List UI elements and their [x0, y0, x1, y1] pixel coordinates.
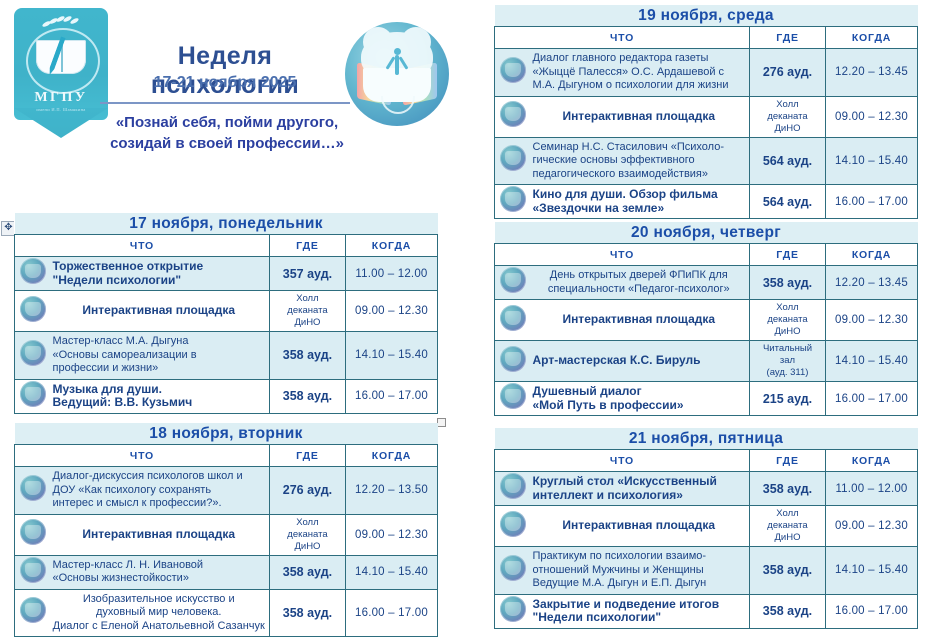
event-when: 16.00 – 17.00 — [826, 382, 918, 416]
column-header-when: КОГДА — [345, 235, 437, 257]
event-icon-cell — [15, 467, 51, 515]
table-row: Музыка для души.Ведущий: В.В. Кузьмич358… — [15, 379, 438, 413]
event-when: 09.00 – 12.30 — [345, 291, 437, 332]
event-icon-cell — [495, 341, 531, 382]
event-when: 14.10 – 15.40 — [345, 555, 437, 589]
event-icon-cell — [495, 300, 531, 341]
event-what: Мастер-класс М.А. Дыгуна«Основы самореал… — [51, 332, 270, 380]
event-what: Интерактивная площадка — [51, 514, 270, 555]
column-header-row: ЧТОГДЕКОГДА — [495, 27, 918, 49]
event-icon-cell — [495, 185, 531, 219]
column-header-when: КОГДА — [826, 244, 918, 266]
psychology-emblem-icon — [345, 22, 449, 126]
table-row: Диалог главного редактора газеты«Жыццё П… — [495, 49, 918, 97]
event-where: 358 ауд. — [749, 594, 825, 628]
event-what: Интерактивная площадка — [531, 300, 750, 341]
event-where: ХоллдеканатаДиНО — [749, 506, 825, 547]
event-when: 09.00 – 12.30 — [826, 96, 918, 137]
table-row: Круглый стол «Искусственныйинтеллект и п… — [495, 472, 918, 506]
event-what: Интерактивная площадка — [531, 96, 750, 137]
column-header-where: ГДЕ — [749, 450, 825, 472]
event-where: ХоллдеканатаДиНО — [750, 300, 826, 341]
event-emblem-icon — [500, 473, 526, 499]
event-icon-cell — [495, 137, 531, 185]
event-icon-cell — [15, 332, 51, 380]
table-row: Интерактивная площадкаХоллдеканатаДиНО09… — [495, 96, 918, 137]
column-header-row: ЧТОГДЕКОГДА — [15, 445, 438, 467]
table-row: Кино для души. Обзор фильма«Звездочки на… — [495, 185, 918, 219]
page-dates: 17-21 ноября 2025 — [100, 74, 350, 92]
table-row: Торжественное открытие"Недели психологии… — [15, 257, 438, 291]
column-header-when: КОГДА — [825, 450, 917, 472]
column-header-where: ГДЕ — [750, 27, 826, 49]
schedule-table-20: 20 ноября, четвергЧТОГДЕКОГДАДень открыт… — [494, 222, 918, 416]
day-title: 21 ноября, пятница — [495, 428, 918, 450]
column-header-where: ГДЕ — [750, 244, 826, 266]
event-icon-cell — [495, 472, 531, 506]
table-row: Практикум по психологии взаимо-отношений… — [495, 547, 918, 595]
table-row: Закрытие и подведение итогов"Недели псих… — [495, 594, 918, 628]
table-row: Мастер-класс М.А. Дыгуна«Основы самореал… — [15, 332, 438, 380]
column-header-what: ЧТО — [15, 445, 270, 467]
event-emblem-icon — [20, 597, 46, 623]
event-what: Изобразительное искусство идуховный мир … — [51, 589, 270, 637]
emblem-human-figure — [391, 48, 403, 82]
table-row: Семинар Н.С. Стасилович «Психоло-гически… — [495, 137, 918, 185]
schedule-table-17: 17 ноября, понедельникЧТОГДЕКОГДАТоржест… — [14, 213, 438, 414]
event-emblem-icon — [500, 267, 526, 293]
event-icon-cell — [495, 96, 531, 137]
day-title-row: 18 ноября, вторник — [15, 423, 438, 445]
table-row: День открытых дверей ФПиПК дляспециально… — [495, 266, 918, 300]
event-emblem-icon — [500, 101, 526, 127]
event-when: 09.00 – 12.30 — [826, 300, 918, 341]
event-when: 16.00 – 17.00 — [825, 594, 917, 628]
event-when: 12.20 – 13.45 — [826, 266, 918, 300]
day-title-row: 20 ноября, четверг — [495, 222, 918, 244]
event-where: 358 ауд. — [269, 555, 345, 589]
event-where: 358 ауд. — [269, 379, 345, 413]
event-icon-cell — [15, 257, 51, 291]
event-icon-cell — [15, 379, 51, 413]
day-title-row: 21 ноября, пятница — [495, 428, 918, 450]
column-header-row: ЧТОГДЕКОГДА — [495, 450, 918, 472]
event-icon-cell — [495, 266, 531, 300]
column-header-what: ЧТО — [15, 235, 270, 257]
column-header-row: ЧТОГДЕКОГДА — [495, 244, 918, 266]
event-emblem-icon — [500, 57, 526, 83]
event-where: 276 ауд. — [269, 467, 345, 515]
event-what: Диалог главного редактора газеты«Жыццё П… — [531, 49, 750, 97]
column-header-where: ГДЕ — [269, 445, 345, 467]
event-where: 215 ауд. — [750, 382, 826, 416]
event-where: ХоллдеканатаДиНО — [269, 514, 345, 555]
event-emblem-icon — [20, 296, 46, 322]
event-when: 09.00 – 12.30 — [345, 514, 437, 555]
event-what: Закрытие и подведение итогов"Недели псих… — [531, 594, 750, 628]
table-row: Душевный диалог«Мой Путь в профессии»215… — [495, 382, 918, 416]
event-what: Практикум по психологии взаимо-отношений… — [531, 547, 750, 595]
event-emblem-icon — [20, 258, 46, 284]
event-when: 14.10 – 15.40 — [826, 137, 918, 185]
event-what: Душевный диалог«Мой Путь в профессии» — [531, 382, 750, 416]
table-row: Интерактивная площадкаХоллдеканатаДиНО09… — [15, 514, 438, 555]
motto-line-1: «Познай себя, пойми другого, — [72, 112, 382, 133]
event-what: Торжественное открытие"Недели психологии… — [51, 257, 270, 291]
event-what: Диалог-дискуссия психологов школ иДОУ «К… — [51, 467, 270, 515]
column-header-when: КОГДА — [826, 27, 918, 49]
event-emblem-icon — [500, 383, 526, 409]
table-row: Диалог-дискуссия психологов школ иДОУ «К… — [15, 467, 438, 515]
event-icon-cell — [495, 547, 531, 595]
event-emblem-icon — [500, 511, 526, 537]
event-what: Кино для души. Обзор фильма«Звездочки на… — [531, 185, 750, 219]
event-when: 11.00 – 12.00 — [825, 472, 917, 506]
event-what: Круглый стол «Искусственныйинтеллект и п… — [531, 472, 750, 506]
schedule-table-18: 18 ноября, вторникЧТОГДЕКОГДАДиалог-диск… — [14, 423, 438, 637]
event-icon-cell — [495, 49, 531, 97]
day-title-row: 17 ноября, понедельник — [15, 213, 438, 235]
event-where: 564 ауд. — [750, 185, 826, 219]
page-title: Неделя психологии — [100, 42, 350, 104]
event-what: Музыка для души.Ведущий: В.В. Кузьмич — [51, 379, 270, 413]
event-when: 09.00 – 12.30 — [825, 506, 917, 547]
event-icon-cell — [495, 382, 531, 416]
event-emblem-icon — [500, 186, 526, 212]
event-what: Арт-мастерская К.С. Бируль — [531, 341, 750, 382]
event-where: 357 ауд. — [269, 257, 345, 291]
event-when: 14.10 – 15.40 — [826, 341, 918, 382]
event-emblem-icon — [20, 381, 46, 407]
event-where: 358 ауд. — [269, 332, 345, 380]
table-row: Интерактивная площадкаХоллдеканатаДиНО09… — [495, 300, 918, 341]
event-when: 14.10 – 15.40 — [825, 547, 917, 595]
event-emblem-icon — [500, 596, 526, 622]
table-row: Изобразительное искусство идуховный мир … — [15, 589, 438, 637]
event-icon-cell — [15, 589, 51, 637]
event-where: 358 ауд. — [750, 266, 826, 300]
crest-university-abbr: МГПУ — [14, 90, 108, 106]
column-header-what: ЧТО — [495, 450, 750, 472]
header-banner: МГПУ имени И.П. Шамякина Неделя психолог… — [0, 0, 470, 200]
column-header-what: ЧТО — [495, 244, 750, 266]
event-emblem-icon — [20, 557, 46, 583]
table-row: Интерактивная площадкаХоллдеканатаДиНО09… — [495, 506, 918, 547]
event-when: 16.00 – 17.00 — [345, 379, 437, 413]
event-where: ХоллдеканатаДиНО — [269, 291, 345, 332]
schedule-table-21: 21 ноября, пятницаЧТОГДЕКОГДАКруглый сто… — [494, 428, 918, 629]
event-emblem-icon — [500, 555, 526, 581]
day-title: 17 ноября, понедельник — [15, 213, 438, 235]
event-what: Семинар Н.С. Стасилович «Психоло-гически… — [531, 137, 750, 185]
event-emblem-icon — [20, 519, 46, 545]
day-title: 18 ноября, вторник — [15, 423, 438, 445]
event-when: 12.20 – 13.50 — [345, 467, 437, 515]
event-when: 16.00 – 17.00 — [345, 589, 437, 637]
event-icon-cell — [495, 506, 531, 547]
event-when: 14.10 – 15.40 — [345, 332, 437, 380]
column-header-row: ЧТОГДЕКОГДА — [15, 235, 438, 257]
column-header-what: ЧТО — [495, 27, 750, 49]
event-where: 276 ауд. — [750, 49, 826, 97]
event-when: 12.20 – 13.45 — [826, 49, 918, 97]
event-icon-cell — [15, 291, 51, 332]
table-row: Интерактивная площадкаХоллдеканатаДиНО09… — [15, 291, 438, 332]
column-header-where: ГДЕ — [269, 235, 345, 257]
event-when: 11.00 – 12.00 — [345, 257, 437, 291]
event-emblem-icon — [500, 145, 526, 171]
event-where: Читальныйзал(ауд. 311) — [750, 341, 826, 382]
event-what: Интерактивная площадка — [531, 506, 750, 547]
event-what: Мастер-класс Л. Н. Ивановой«Основы жизне… — [51, 555, 270, 589]
schedule-table-19: 19 ноября, средаЧТОГДЕКОГДАДиалог главно… — [494, 5, 918, 219]
resize-handle[interactable] — [437, 418, 446, 427]
event-where: 358 ауд. — [269, 589, 345, 637]
event-what: День открытых дверей ФПиПК дляспециально… — [531, 266, 750, 300]
event-where: ХоллдеканатаДиНО — [750, 96, 826, 137]
event-emblem-icon — [20, 475, 46, 501]
event-emblem-icon — [20, 340, 46, 366]
page-motto: «Познай себя, пойми другого, созидай в с… — [72, 112, 382, 154]
day-title: 19 ноября, среда — [495, 5, 918, 27]
column-header-when: КОГДА — [345, 445, 437, 467]
day-title: 20 ноября, четверг — [495, 222, 918, 244]
event-where: 564 ауд. — [750, 137, 826, 185]
event-icon-cell — [495, 594, 531, 628]
table-row: Арт-мастерская К.С. БирульЧитальныйзал(а… — [495, 341, 918, 382]
event-when: 16.00 – 17.00 — [826, 185, 918, 219]
event-what: Интерактивная площадка — [51, 291, 270, 332]
event-emblem-icon — [500, 346, 526, 372]
event-icon-cell — [15, 555, 51, 589]
emblem-swirl — [381, 96, 415, 114]
event-where: 358 ауд. — [749, 472, 825, 506]
motto-line-2: созидай в своей профессии…» — [72, 133, 382, 154]
event-emblem-icon — [500, 305, 526, 331]
event-where: 358 ауд. — [749, 547, 825, 595]
event-icon-cell — [15, 514, 51, 555]
day-title-row: 19 ноября, среда — [495, 5, 918, 27]
table-row: Мастер-класс Л. Н. Ивановой«Основы жизне… — [15, 555, 438, 589]
